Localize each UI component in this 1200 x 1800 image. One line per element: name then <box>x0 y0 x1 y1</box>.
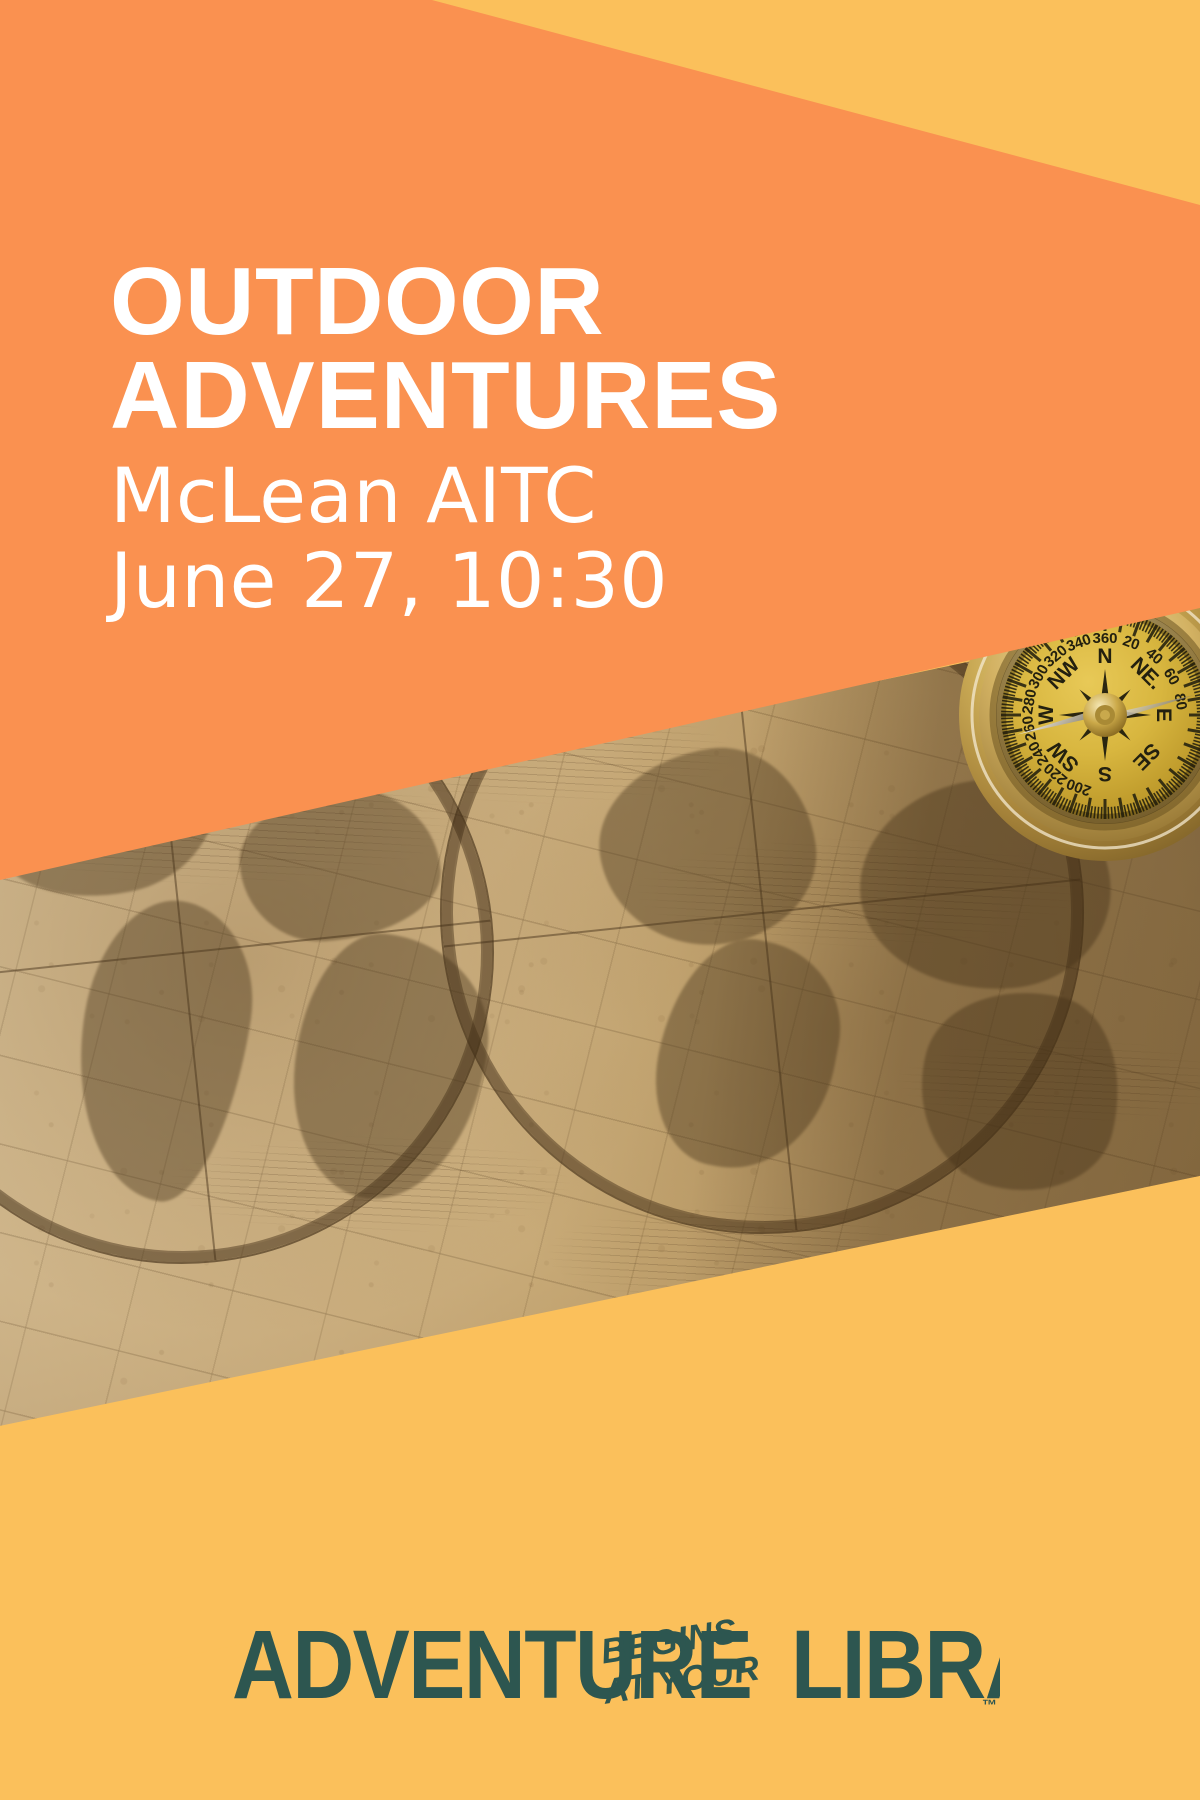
headline-block: OUTDOOR ADVENTURES McLean AITC June 27, … <box>110 255 1070 623</box>
event-location: McLean AITC <box>110 453 1070 538</box>
library-logo: ADVENTURE BEGINS AT YOUR LIBRARY ™ <box>232 1610 1000 1722</box>
event-details: McLean AITC June 27, 10:30 <box>110 453 1070 623</box>
svg-text:S: S <box>1098 762 1112 785</box>
yellow-bottom-wedge <box>0 1320 1200 1800</box>
title-line-1: OUTDOOR <box>110 248 604 355</box>
page-title: OUTDOOR ADVENTURES <box>110 255 1070 443</box>
svg-text:E: E <box>1152 708 1175 722</box>
poster-canvas: 20 40 60 80 200 220 240 260 280 300 320 … <box>0 0 1200 1800</box>
logo-trademark: ™ <box>982 1697 997 1714</box>
svg-text:W: W <box>1035 705 1058 725</box>
svg-text:N: N <box>1097 645 1112 668</box>
title-line-2: ADVENTURES <box>110 349 1070 443</box>
event-datetime: June 27, 10:30 <box>110 538 1070 623</box>
logo-word-library: LIBRARY <box>791 1611 1000 1719</box>
